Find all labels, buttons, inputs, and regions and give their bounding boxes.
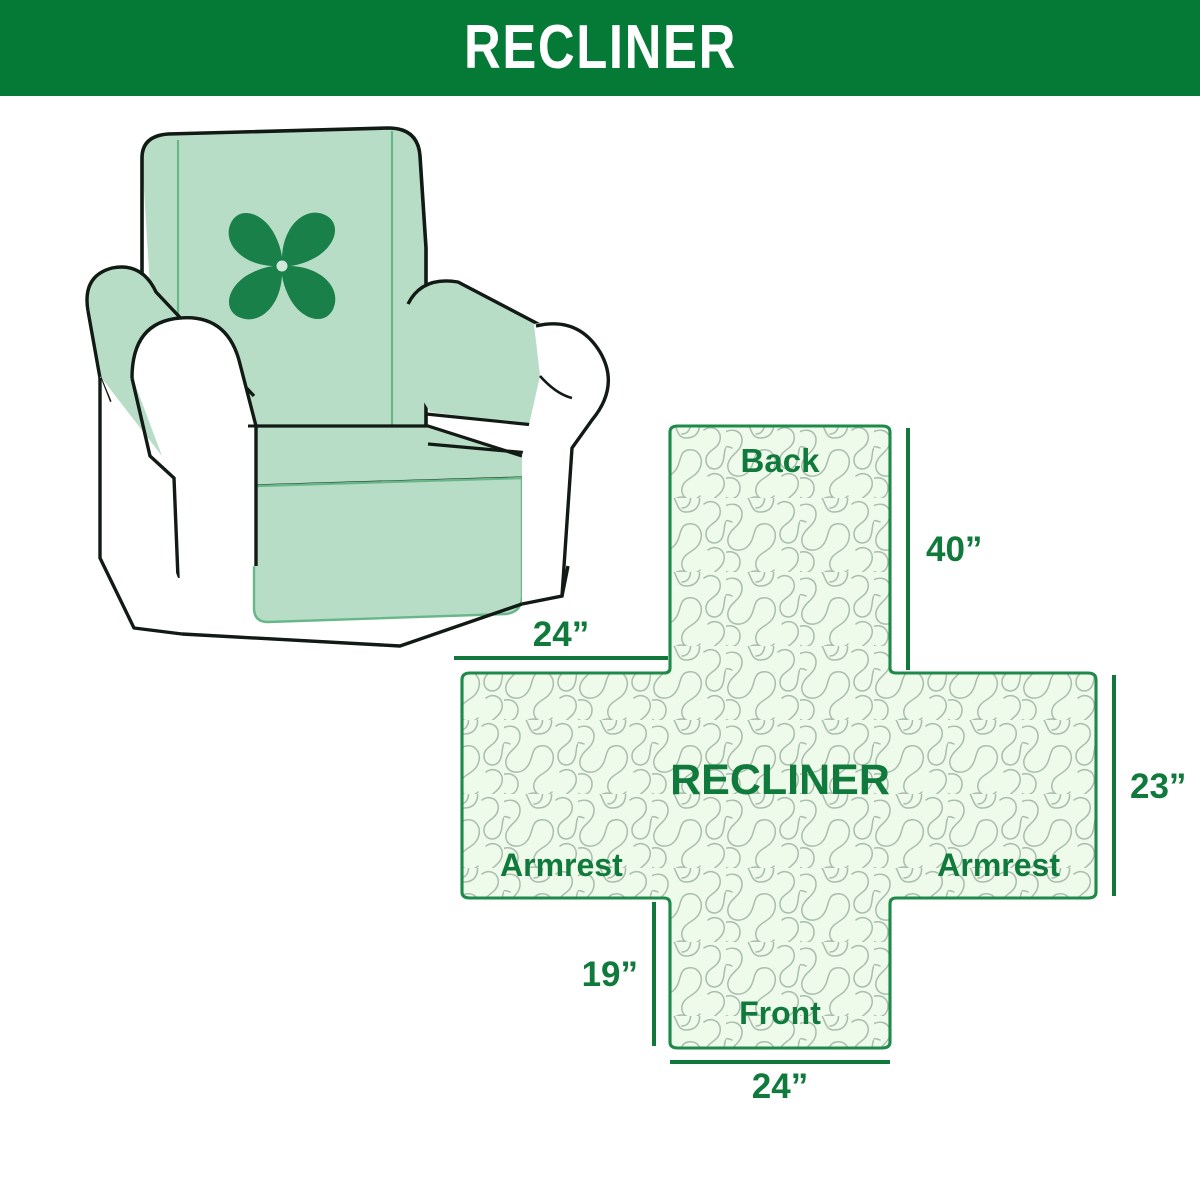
section-label-armrest-left: Armrest <box>500 847 623 883</box>
section-label-armrest-right: Armrest <box>937 847 1060 883</box>
dimension-value-19: 19” <box>582 955 638 994</box>
page-title: RECLINER <box>464 17 737 79</box>
dimension-front-width: 24” <box>670 1062 890 1106</box>
center-label-recliner: RECLINER <box>670 756 890 804</box>
dimension-arm-top-width: 24” <box>454 615 668 658</box>
section-label-back: Back <box>741 442 821 479</box>
slipcover-pattern-piece <box>462 426 1096 1048</box>
diagram-stage: Back RECLINER Armrest Armrest Front 40” … <box>0 96 1200 1200</box>
dimension-value-24-bottom: 24” <box>752 1067 808 1106</box>
dimension-value-40: 40” <box>926 530 982 569</box>
dimension-value-24-top: 24” <box>533 615 589 654</box>
dimension-back-height: 40” <box>908 428 982 670</box>
dimension-arm-height: 23” <box>1114 675 1186 896</box>
section-label-front: Front <box>739 995 821 1031</box>
pattern-piece-diagram: Back RECLINER Armrest Armrest Front 40” … <box>430 276 1190 1176</box>
header-banner: RECLINER <box>0 0 1200 96</box>
dimension-front-height: 19” <box>582 902 654 1046</box>
dimension-value-23: 23” <box>1130 767 1186 806</box>
